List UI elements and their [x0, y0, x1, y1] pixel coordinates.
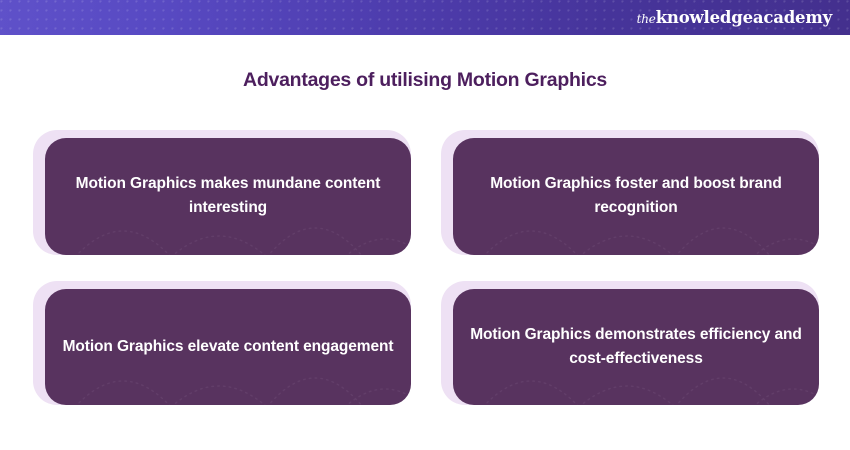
- advantage-card-3-body: Motion Graphics elevate content engageme…: [45, 289, 411, 406]
- header-band: theknowledgeacademy: [0, 0, 850, 35]
- advantages-card-grid: Motion Graphics makes mundane content in…: [33, 130, 819, 405]
- advantage-card-4-body: Motion Graphics demonstrates efficiency …: [453, 289, 819, 406]
- infographic-page: theknowledgeacademy Advantages of utilis…: [0, 0, 850, 450]
- brand-logo-name: knowledgeacademy: [656, 7, 832, 26]
- advantage-card-1-text: Motion Graphics makes mundane content in…: [45, 172, 411, 220]
- advantage-card-1: Motion Graphics makes mundane content in…: [33, 130, 411, 255]
- advantage-card-2-body: Motion Graphics foster and boost brand r…: [453, 138, 819, 255]
- advantage-card-2: Motion Graphics foster and boost brand r…: [441, 130, 819, 255]
- page-title: Advantages of utilising Motion Graphics: [0, 69, 850, 92]
- advantage-card-4: Motion Graphics demonstrates efficiency …: [441, 281, 819, 406]
- advantage-card-3-text: Motion Graphics elevate content engageme…: [49, 335, 408, 359]
- brand-logo-prefix: the: [637, 11, 656, 25]
- advantage-card-1-body: Motion Graphics makes mundane content in…: [45, 138, 411, 255]
- advantage-card-3: Motion Graphics elevate content engageme…: [33, 281, 411, 406]
- brand-logo: theknowledgeacademy: [637, 9, 832, 26]
- advantage-card-2-text: Motion Graphics foster and boost brand r…: [453, 172, 819, 220]
- advantage-card-4-text: Motion Graphics demonstrates efficiency …: [453, 323, 819, 371]
